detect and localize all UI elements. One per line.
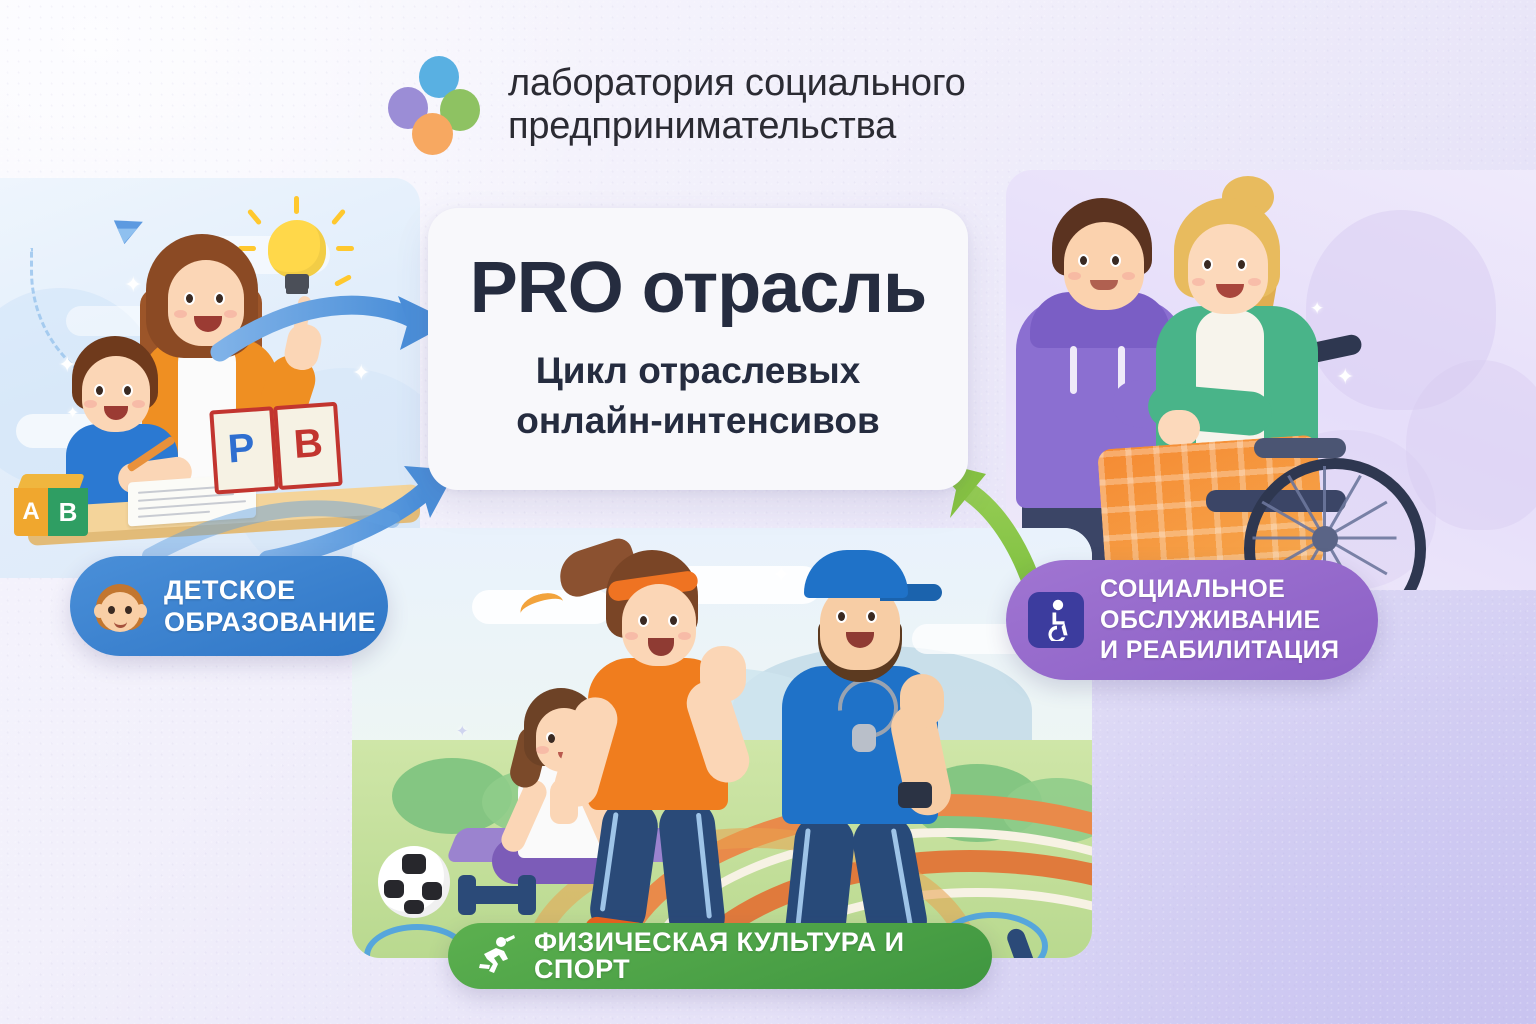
badge-physical-culture-sport[interactable]: ФИЗИЧЕСКАЯ КУЛЬТУРА И СПОРТ [448,923,992,989]
dumbbell [462,886,532,904]
poster-canvas: ✦ ✦ ✦ ✦ ✦ [0,0,1536,1024]
page-title: PRO отрасль [470,252,927,324]
sport-illustration: ✦ ✦ ✦ ✦ [352,528,1092,958]
baby-face-icon [92,578,148,634]
badge-label-sport: ФИЗИЧЕСКАЯ КУЛЬТУРА И СПОРТ [534,929,966,983]
brand-name: лаборатория социального предпринимательс… [508,62,966,149]
badge-label-education: ДЕТСКОЕ ОБРАЗОВАНИЕ [164,574,376,639]
open-book: P B [209,401,347,494]
block-letter-a: A [14,488,48,536]
page-subtitle: Цикл отраслевых онлайн-интенсивов [516,346,880,446]
badge-social-services[interactable]: СОЦИАЛЬНОЕ ОБСЛУЖИВАНИЕ И РЕАБИЛИТАЦИЯ [1006,560,1378,680]
wheelchair-accessibility-icon [1028,592,1084,648]
book-letter-right: B [292,423,324,465]
main-title-card: PRO отрасль Цикл отраслевых онлайн-интен… [428,208,968,490]
alphabet-block: A B [14,474,88,536]
four-circles-logo-icon [388,56,484,154]
paper-plane-icon [114,210,148,244]
soccer-ball [378,846,450,918]
running-person-icon [474,934,518,978]
book-letter-left: P [227,428,256,470]
badge-children-education[interactable]: ДЕТСКОЕ ОБРАЗОВАНИЕ [70,556,388,656]
badge-label-social: СОЦИАЛЬНОЕ ОБСЛУЖИВАНИЕ И РЕАБИЛИТАЦИЯ [1100,574,1339,666]
brand-lockup: лаборатория социального предпринимательс… [388,56,966,154]
education-illustration: ✦ ✦ ✦ ✦ ✦ [0,178,420,578]
block-letter-b: B [48,488,88,536]
social-care-illustration: ✦ ✦ ✦ [1006,170,1536,590]
